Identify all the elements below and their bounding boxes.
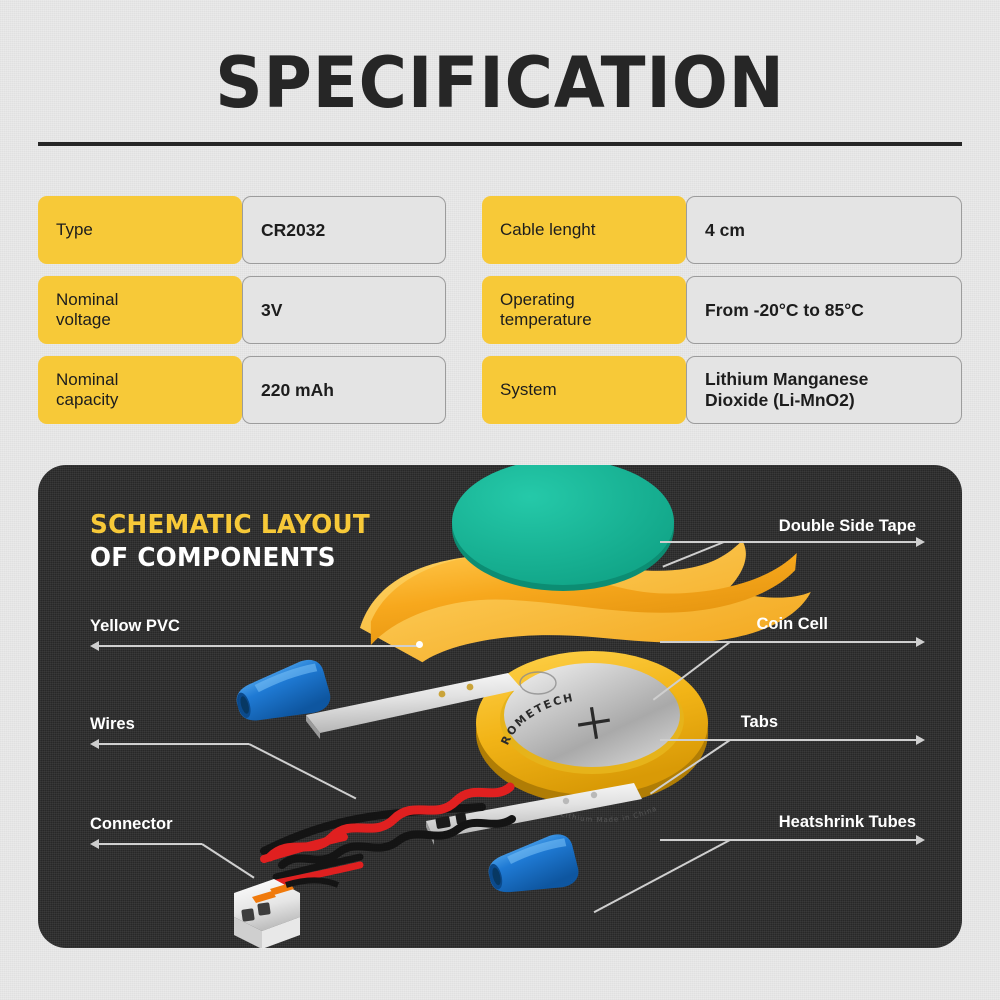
callout-leader-yellow-pvc: [99, 645, 419, 647]
callout-label-wires: Wires: [90, 715, 135, 734]
callout-leader-double-side-tape: [660, 541, 916, 543]
exploded-component-illustration: ROMETECH 3V Lithium Made in China: [38, 465, 962, 948]
schematic-panel: SCHEMATIC LAYOUT OF COMPONENTS: [38, 465, 962, 948]
callout-label-double-side-tape: Double Side Tape: [779, 517, 916, 536]
spec-label-nominal-capacity: Nominalcapacity: [38, 356, 242, 424]
callout-arrow-tabs: [916, 735, 925, 745]
callout-label-tabs: Tabs: [741, 713, 778, 732]
callout-label-connector: Connector: [90, 815, 173, 834]
spec-value-type: CR2032: [242, 196, 446, 264]
callout-arrow-wires: [90, 739, 99, 749]
callout-leader-coin-cell: [660, 641, 916, 643]
callout-arrow-yellow-pvc: [90, 641, 99, 651]
callout-arrow-connector: [90, 839, 99, 849]
callout-arrow-heatshrink-tubes: [916, 835, 925, 845]
callout-leader-connector: [99, 843, 202, 845]
page-title: SPECIFICATION: [30, 48, 970, 118]
spec-label-system: System: [482, 356, 686, 424]
spec-value-operating-temperature: From -20°C to 85°C: [686, 276, 962, 344]
callout-arrow-coin-cell: [916, 637, 925, 647]
spec-value-nominal-voltage: 3V: [242, 276, 446, 344]
specification-table: Type CR2032 Cable lenght 4 cm Nominalvol…: [38, 196, 962, 424]
callout-label-coin-cell: Coin Cell: [756, 615, 828, 634]
callout-leader-wires: [99, 743, 249, 745]
callout-label-yellow-pvc: Yellow PVC: [90, 617, 180, 636]
spec-value-system: Lithium ManganeseDioxide (Li-MnO2): [686, 356, 962, 424]
callout-dot-yellow-pvc: [416, 641, 423, 648]
double-side-tape-artwork: [452, 465, 674, 591]
callout-arrow-double-side-tape: [916, 537, 925, 547]
connector-artwork: [234, 879, 338, 948]
spec-value-nominal-capacity: 220 mAh: [242, 356, 446, 424]
spec-label-operating-temperature: Operatingtemperature: [482, 276, 686, 344]
title-divider: [38, 142, 962, 146]
spec-label-cable-lenght: Cable lenght: [482, 196, 686, 264]
spec-label-nominal-voltage: Nominalvoltage: [38, 276, 242, 344]
heatshrink-tube-lower-artwork: [483, 831, 581, 904]
callout-leader-tabs: [660, 739, 916, 741]
spec-value-cable-lenght: 4 cm: [686, 196, 962, 264]
callout-label-heatshrink-tubes: Heatshrink Tubes: [779, 813, 916, 832]
spec-label-type: Type: [38, 196, 242, 264]
callout-leader-heatshrink-tubes: [660, 839, 916, 841]
